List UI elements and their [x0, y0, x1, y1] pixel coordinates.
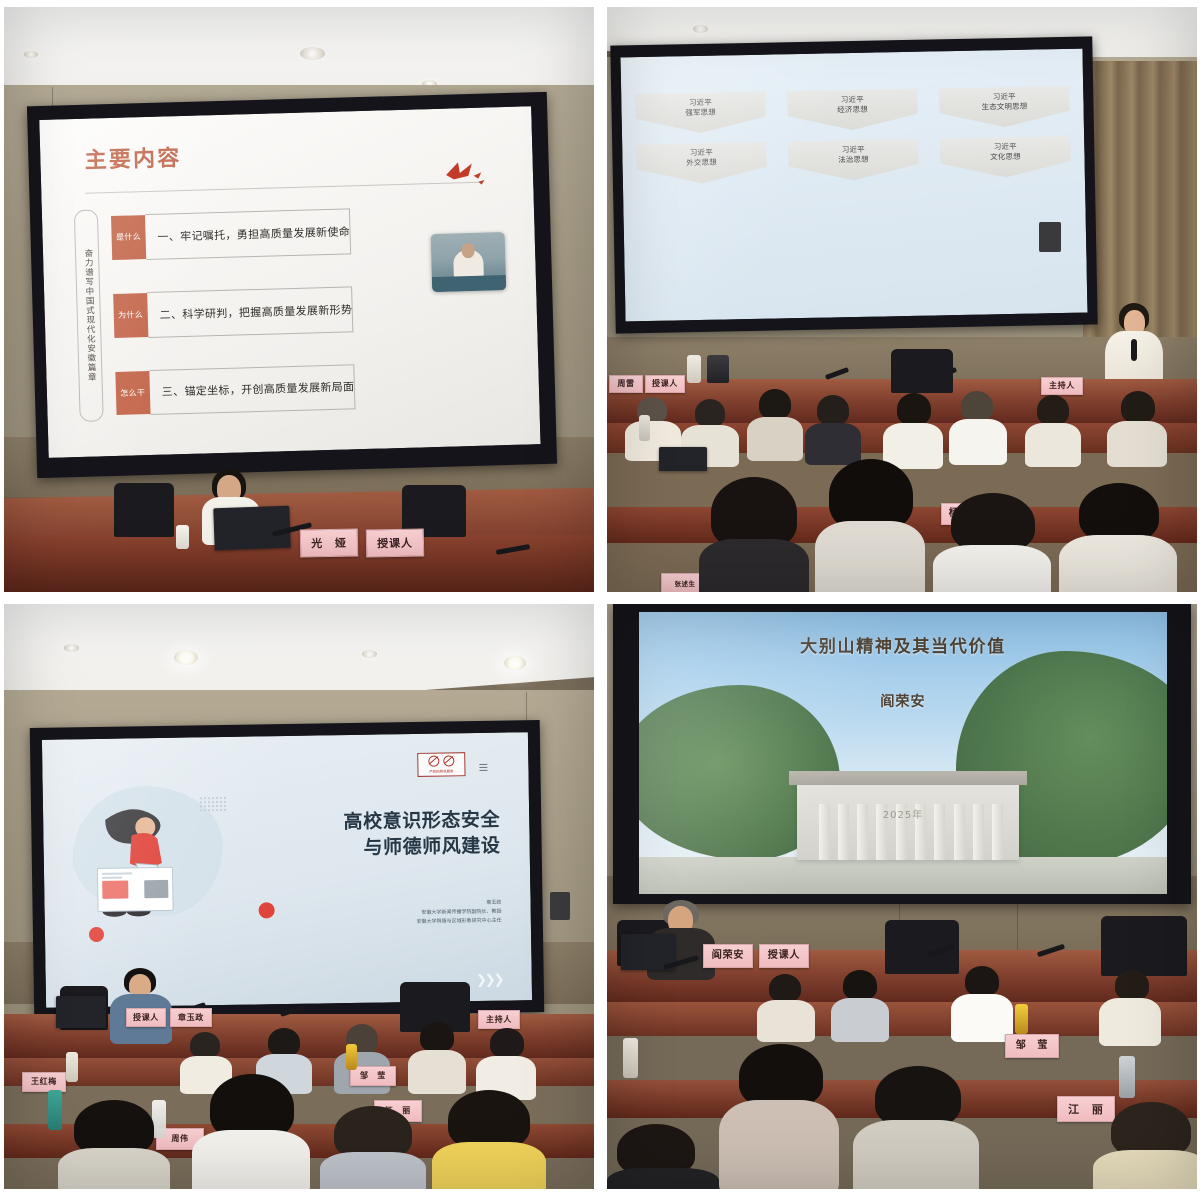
- projection-screen-frame: 主要内容 奋力谱写中国式现代化安徽篇章 是什么 一、牢记嘱托，勇担高质量发展新使…: [27, 92, 557, 478]
- chair: [891, 349, 953, 393]
- pentagon-label: 习近平 法治思想: [838, 145, 869, 166]
- projection-screen: 严禁拍照或摄像: [42, 732, 532, 1008]
- foreground-person: [933, 493, 1051, 592]
- menu-icon: [479, 762, 487, 773]
- pentagon-label: 习近平 文化思想: [990, 142, 1021, 163]
- ground: [639, 857, 1167, 894]
- nameplate: 主持人: [478, 1010, 520, 1029]
- pentagon-item: 习近平 文化思想: [940, 136, 1071, 178]
- audience-person: [1025, 395, 1081, 461]
- thermos: [1119, 1056, 1135, 1098]
- foreground-person: [58, 1100, 170, 1189]
- nameplate: 授课人: [759, 944, 809, 968]
- thermos: [623, 1038, 638, 1078]
- avatar-bubble-icon: [258, 902, 274, 918]
- badge-label: 严禁拍照或摄像: [429, 768, 453, 773]
- audience-person: [757, 974, 815, 1036]
- agenda-tag: 怎么干: [115, 371, 150, 416]
- foreground-person: [699, 477, 809, 592]
- projection-screen: 主要内容 奋力谱写中国式现代化安徽篇章 是什么 一、牢记嘱托，勇担高质量发展新使…: [39, 106, 540, 458]
- foreground-person: [815, 459, 925, 592]
- slide-date: 2025年: [639, 806, 1167, 821]
- audience-person: [747, 389, 803, 455]
- audience-person: [1099, 970, 1161, 1040]
- projection-screen-frame: 严禁拍照或摄像: [30, 720, 545, 1020]
- pentagon-label: 习近平 外交思想: [686, 148, 717, 169]
- panel-bottom-left: 严禁拍照或摄像: [4, 604, 594, 1189]
- nameplate: 邹 莹: [1005, 1034, 1059, 1058]
- no-photography-badge: 严禁拍照或摄像: [417, 752, 465, 777]
- dot-pattern: [198, 796, 226, 812]
- audience-person: [805, 395, 861, 459]
- panel-top-right: 习近平 强军思想 习近平 经济思想 习近平 生态文明思想 习近平 外交思想 习近…: [607, 7, 1197, 592]
- chair: [1101, 916, 1187, 976]
- agenda-tag: 是什么: [111, 215, 146, 260]
- audience-person: [408, 1022, 466, 1088]
- slide-title-line2: 与师德师风建设: [344, 833, 501, 861]
- slide-main-contents: 主要内容 奋力谱写中国式现代化安徽篇章 是什么 一、牢记嘱托，勇担高质量发展新使…: [39, 106, 540, 458]
- laptop: [56, 996, 106, 1028]
- laptop: [659, 447, 707, 471]
- slide-dabieshan-title: 大别山精神及其当代价值 阎荣安 2025年: [639, 612, 1167, 894]
- audience-person: [883, 393, 943, 463]
- slide-title: 大别山精神及其当代价值: [639, 632, 1167, 657]
- pentagon-item: 习近平 法治思想: [788, 139, 919, 181]
- wall-speaker: [550, 892, 570, 920]
- slide-subtitle: 章玉政 安徽大学新闻传播学院副院长、教授 安徽大学舆情与区域形象研究中心主任: [416, 899, 501, 927]
- agenda-text: 二、科学研判，把握高质量发展新形势: [147, 286, 354, 338]
- subtitle-line: 安徽大学舆情与区域形象研究中心主任: [417, 916, 502, 926]
- image-placeholder-icon: [103, 880, 129, 898]
- pentagon-item: 习近平 经济思想: [787, 89, 918, 131]
- slide-side-label: 奋力谱写中国式现代化安徽篇章: [74, 210, 104, 422]
- nameplate: 王红梅: [22, 1072, 66, 1092]
- foreground-person: [853, 1066, 979, 1189]
- nameplate: 阎荣安: [703, 944, 753, 968]
- pentagon-item: 习近平 外交思想: [636, 142, 767, 184]
- webpage-card-illustration: [97, 866, 174, 911]
- ceiling-light: [300, 47, 325, 60]
- slide-title-line1: 高校意识形态安全: [343, 808, 500, 836]
- foreground-person: [607, 1124, 719, 1189]
- water-bottle: [639, 415, 650, 441]
- nameplate: 周雷: [609, 375, 643, 393]
- chevron-right-icon: ❯❯❯: [476, 972, 503, 987]
- foreground-person: [192, 1074, 310, 1189]
- wall-speaker: [1039, 222, 1061, 252]
- ceiling-light: [174, 650, 198, 665]
- agenda-text: 三、锚定坐标，开创高质量发展新局面: [149, 364, 356, 416]
- pentagon-label: 习近平 生态文明思想: [981, 92, 1027, 113]
- thermos: [687, 355, 701, 383]
- foreground-person: [320, 1106, 426, 1189]
- photo-collage: 主要内容 奋力谱写中国式现代化安徽篇章 是什么 一、牢记嘱托，勇担高质量发展新使…: [0, 0, 1200, 1200]
- slide-video-thumbnail: [431, 232, 507, 292]
- no-video-icon: [443, 755, 454, 766]
- chair: [114, 483, 174, 537]
- slide-side-label-text: 奋力谱写中国式现代化安徽篇章: [82, 249, 95, 383]
- ceiling-light: [362, 650, 377, 658]
- agenda-tag: 为什么: [113, 293, 148, 338]
- foreground-person: [719, 1044, 839, 1189]
- foreground-person: [432, 1090, 546, 1189]
- ceiling-light: [64, 644, 79, 652]
- avatar-bubble-icon: [89, 926, 104, 941]
- pentagon-item: 习近平 生态文明思想: [939, 86, 1070, 128]
- slide-ideology-title: 严禁拍照或摄像: [42, 732, 532, 1008]
- audience-person: [1107, 391, 1167, 461]
- nameplate: 授课人: [645, 375, 685, 393]
- water-bottle: [346, 1044, 357, 1070]
- agenda-row: 为什么 二、科学研判，把握高质量发展新形势: [113, 287, 354, 338]
- foreground-person: [1093, 1102, 1197, 1189]
- pentagon-label: 习近平 经济思想: [837, 95, 868, 116]
- pentagon-label: 习近平 强军思想: [685, 98, 716, 119]
- slide-xi-thought-grid: 习近平 强军思想 习近平 经济思想 习近平 生态文明思想 习近平 外交思想 习近…: [621, 49, 1088, 322]
- nameplate: 主持人: [1041, 377, 1083, 395]
- slide-title: 主要内容: [84, 140, 182, 175]
- bird-icon: [442, 158, 489, 185]
- nameplate: 光 娅: [300, 528, 358, 557]
- projection-screen-frame: 大别山精神及其当代价值 阎荣安 2025年: [613, 604, 1191, 904]
- nameplate: 章玉政: [170, 1008, 212, 1027]
- ceiling-light: [24, 51, 38, 58]
- laptop: [213, 506, 290, 551]
- audience-person: [476, 1028, 536, 1094]
- no-camera-icon: [428, 756, 439, 767]
- building-roof: [789, 771, 1027, 785]
- agenda-row: 是什么 一、牢记嘱托，勇担高质量发展新使命: [111, 209, 352, 260]
- image-placeholder-icon: [145, 879, 169, 897]
- ceiling-light: [693, 25, 708, 33]
- agenda-text: 一、牢记嘱托，勇担高质量发展新使命: [145, 208, 352, 260]
- panel-bottom-right: 大别山精神及其当代价值 阎荣安 2025年 阎荣安 授课人: [607, 604, 1197, 1189]
- projection-screen: 习近平 强军思想 习近平 经济思想 习近平 生态文明思想 习近平 外交思想 习近…: [621, 49, 1088, 322]
- agenda-row: 怎么干 三、锚定坐标，开创高质量发展新局面: [115, 365, 356, 416]
- projection-screen: 大别山精神及其当代价值 阎荣安 2025年: [639, 612, 1167, 894]
- slide-title: 高校意识形态安全 与师德师风建设: [343, 808, 500, 862]
- audience-person: [951, 966, 1013, 1036]
- pentagon-item: 习近平 强军思想: [635, 92, 766, 134]
- thermos: [66, 1052, 78, 1082]
- kettle: [707, 355, 729, 383]
- foreground-person: [1059, 483, 1177, 592]
- projection-screen-frame: 习近平 强军思想 习近平 经济思想 习近平 生态文明思想 习近平 外交思想 习近…: [610, 36, 1097, 333]
- nameplate: 授课人: [126, 1008, 166, 1027]
- audience-person: [949, 391, 1007, 461]
- head-table-front: [4, 535, 594, 592]
- speaker-person: [110, 968, 172, 1038]
- ceiling-light: [504, 656, 526, 670]
- nameplate: 授课人: [366, 528, 424, 557]
- cup: [176, 525, 189, 549]
- water-bottle: [1015, 1004, 1028, 1034]
- panel-top-left: 主要内容 奋力谱写中国式现代化安徽篇章 是什么 一、牢记嘱托，勇担高质量发展新使…: [4, 7, 594, 592]
- slide-divider: [86, 182, 479, 194]
- slide-author: 阎荣安: [639, 691, 1167, 711]
- audience-person: [831, 970, 889, 1036]
- pentagon-grid: 习近平 强军思想 习近平 经济思想 习近平 生态文明思想 习近平 外交思想 习近…: [635, 86, 1071, 174]
- nameplate: 邹 莹: [350, 1066, 396, 1086]
- handheld-microphone: [1131, 339, 1137, 361]
